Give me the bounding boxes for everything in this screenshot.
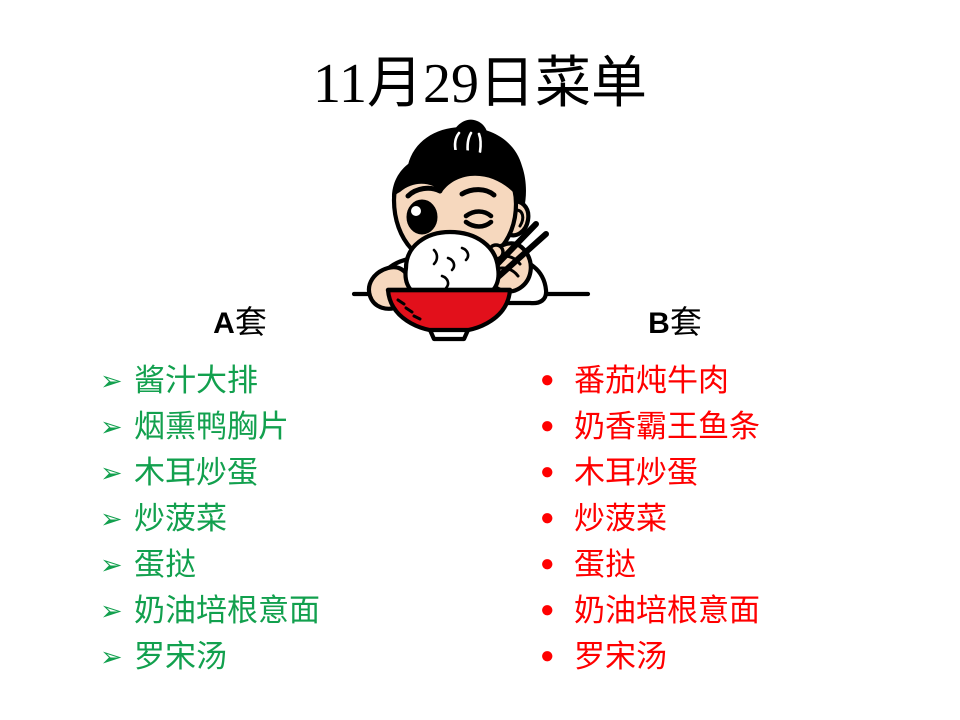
dish-name: 蛋挞	[134, 542, 196, 588]
menu-slide: 11月29日菜单	[0, 0, 960, 720]
dish-name: 炒菠菜	[134, 496, 227, 542]
dish-name: 烟熏鸭胸片	[134, 404, 289, 450]
menu-column-b: B套 ● 番茄炖牛肉 ● 奶香霸王鱼条 ● 木耳炒蛋 ● 炒菠菜 ● 蛋挞	[490, 300, 860, 680]
disc-bullet-icon: ●	[540, 449, 574, 495]
set-b-heading-latin: B	[648, 307, 670, 340]
list-item[interactable]: ● 蛋挞	[540, 542, 860, 588]
disc-bullet-icon: ●	[540, 495, 574, 541]
list-item[interactable]: ● 奶香霸王鱼条	[540, 404, 860, 450]
dish-name: 番茄炖牛肉	[574, 358, 729, 404]
list-item[interactable]: ➢ 木耳炒蛋	[100, 450, 425, 496]
list-item[interactable]: ➢ 烟熏鸭胸片	[100, 404, 425, 450]
list-item[interactable]: ● 奶油培根意面	[540, 588, 860, 634]
disc-bullet-icon: ●	[540, 587, 574, 633]
bowl-foot	[430, 330, 468, 339]
dish-name: 奶油培根意面	[134, 588, 320, 634]
list-item[interactable]: ● 木耳炒蛋	[540, 450, 860, 496]
list-item[interactable]: ➢ 酱汁大排	[100, 358, 425, 404]
dish-name: 木耳炒蛋	[134, 450, 258, 496]
arrow-bullet-icon: ➢	[100, 588, 134, 634]
set-a-heading: A套	[55, 300, 425, 346]
set-a-heading-latin: A	[213, 307, 235, 340]
list-item[interactable]: ➢ 奶油培根意面	[100, 588, 425, 634]
rice	[405, 232, 498, 294]
set-a-dish-list: ➢ 酱汁大排 ➢ 烟熏鸭胸片 ➢ 木耳炒蛋 ➢ 炒菠菜 ➢ 蛋挞 ➢ 奶油培根意…	[55, 358, 425, 680]
set-b-heading: B套	[490, 300, 860, 346]
list-item[interactable]: ● 炒菠菜	[540, 496, 860, 542]
disc-bullet-icon: ●	[540, 633, 574, 679]
eye-left-highlight	[411, 206, 421, 216]
list-item[interactable]: ➢ 炒菠菜	[100, 496, 425, 542]
set-b-dish-list: ● 番茄炖牛肉 ● 奶香霸王鱼条 ● 木耳炒蛋 ● 炒菠菜 ● 蛋挞 ● 奶油培…	[490, 358, 860, 680]
arrow-bullet-icon: ➢	[100, 542, 134, 588]
arrow-bullet-icon: ➢	[100, 404, 134, 450]
dish-name: 奶油培根意面	[574, 588, 760, 634]
dish-name: 罗宋汤	[134, 634, 227, 680]
set-a-heading-cjk: 套	[235, 304, 267, 340]
dish-name: 木耳炒蛋	[574, 450, 698, 496]
disc-bullet-icon: ●	[540, 357, 574, 403]
set-b-heading-cjk: 套	[670, 304, 702, 340]
eye-left	[408, 201, 436, 233]
dish-name: 罗宋汤	[574, 634, 667, 680]
list-item[interactable]: ● 罗宋汤	[540, 634, 860, 680]
dish-name: 炒菠菜	[574, 496, 667, 542]
arrow-bullet-icon: ➢	[100, 496, 134, 542]
arrow-bullet-icon: ➢	[100, 634, 134, 680]
list-item[interactable]: ➢ 蛋挞	[100, 542, 425, 588]
menu-column-a: A套 ➢ 酱汁大排 ➢ 烟熏鸭胸片 ➢ 木耳炒蛋 ➢ 炒菠菜 ➢ 蛋挞	[55, 300, 425, 680]
arrow-bullet-icon: ➢	[100, 358, 134, 404]
arrow-bullet-icon: ➢	[100, 450, 134, 496]
disc-bullet-icon: ●	[540, 403, 574, 449]
dish-name: 奶香霸王鱼条	[574, 404, 760, 450]
dish-name: 蛋挞	[574, 542, 636, 588]
dish-name: 酱汁大排	[134, 358, 258, 404]
page-title: 11月29日菜单	[0, 52, 960, 116]
disc-bullet-icon: ●	[540, 541, 574, 587]
list-item[interactable]: ● 番茄炖牛肉	[540, 358, 860, 404]
list-item[interactable]: ➢ 罗宋汤	[100, 634, 425, 680]
